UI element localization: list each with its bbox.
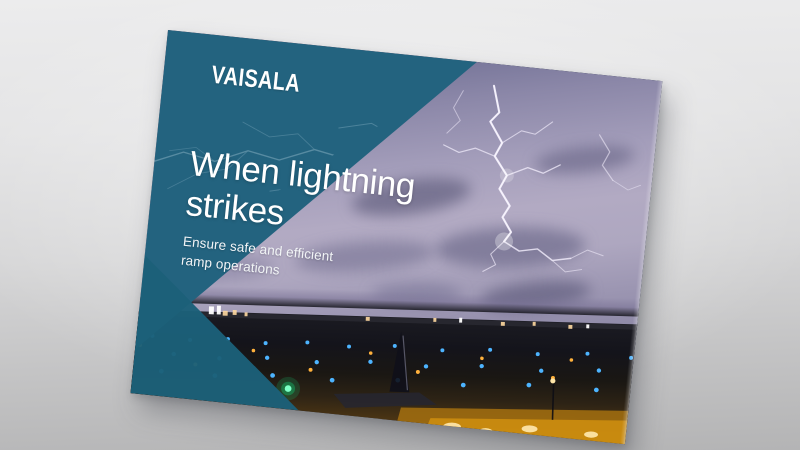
- brochure-cover-card: VAISALA When lightning strikes Ensure sa…: [130, 30, 662, 444]
- scene-stage: VAISALA When lightning strikes Ensure sa…: [0, 0, 800, 450]
